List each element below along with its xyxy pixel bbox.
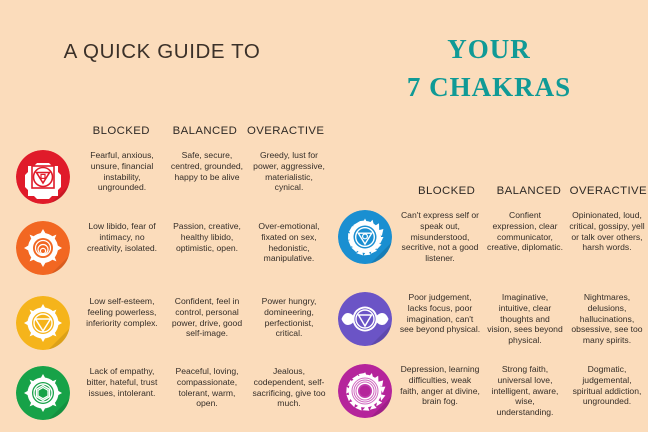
icon-cell bbox=[334, 292, 396, 346]
row-cells: Poor judgement, lacks focus, poor imagin… bbox=[396, 292, 648, 346]
cell-balanced: Safe, secure, centred, grounded, happy t… bbox=[166, 150, 248, 193]
cell-overactive: Greedy, lust for power, aggressive, mate… bbox=[248, 150, 330, 193]
crown-chakra-icon bbox=[338, 364, 392, 418]
cell-blocked: Low self-esteem, feeling powerless, infe… bbox=[78, 296, 166, 339]
sacral-chakra-icon bbox=[16, 221, 70, 275]
column-header-blocked: BLOCKED bbox=[78, 125, 165, 137]
icon-cell bbox=[8, 296, 78, 350]
heart-chakra-icon bbox=[16, 366, 70, 420]
column-header-overactive: OVERACTIVE bbox=[569, 185, 648, 197]
row-cells: Low libido, fear of intimacy, no creativ… bbox=[78, 221, 330, 264]
solar-plexus-chakra-icon bbox=[16, 296, 70, 350]
row-cells: Can't express self or speak out, misunde… bbox=[396, 210, 648, 264]
icon-cell bbox=[334, 210, 396, 264]
page-title-right-line1: YOUR bbox=[330, 32, 648, 66]
page-title-right-line2: 7 CHAKRAS bbox=[330, 70, 648, 104]
chakra-row-sacral: Low libido, fear of intimacy, no creativ… bbox=[8, 221, 330, 275]
cell-overactive: Dogmatic, judgemental, spiritual addicti… bbox=[566, 364, 648, 418]
row-cells: Depression, learning difficulties, weak … bbox=[396, 364, 648, 418]
cell-blocked: Lack of empathy, bitter, hateful, trust … bbox=[78, 366, 166, 409]
column-headers-left: BLOCKED BALANCED OVERACTIVE bbox=[78, 125, 326, 137]
cell-overactive: Opinionated, loud, critical, gossipy, ye… bbox=[566, 210, 648, 264]
cell-balanced: Confident, feel in control, personal pow… bbox=[166, 296, 248, 339]
cell-blocked: Can't express self or speak out, misunde… bbox=[396, 210, 484, 264]
cell-balanced: Imaginative, intuitive, clear thoughts a… bbox=[484, 292, 566, 346]
cell-blocked: Depression, learning difficulties, weak … bbox=[396, 364, 484, 418]
row-cells: Lack of empathy, bitter, hateful, trust … bbox=[78, 366, 330, 409]
cell-balanced: Peaceful, loving, compassionate, toleran… bbox=[166, 366, 248, 409]
chakra-infographic: A QUICK GUIDE TO YOUR 7 CHAKRAS BLOCKED … bbox=[0, 0, 648, 432]
cell-balanced: Strong faith, universal love, intelligen… bbox=[484, 364, 566, 418]
icon-cell bbox=[8, 221, 78, 275]
column-header-blocked: BLOCKED bbox=[404, 185, 489, 197]
column-header-balanced: BALANCED bbox=[165, 125, 246, 137]
cell-blocked: Low libido, fear of intimacy, no creativ… bbox=[78, 221, 166, 264]
page-title-left: A QUICK GUIDE TO bbox=[0, 40, 324, 64]
cell-blocked: Poor judgement, lacks focus, poor imagin… bbox=[396, 292, 484, 346]
throat-chakra-icon bbox=[338, 210, 392, 264]
column-headers-right: BLOCKED BALANCED OVERACTIVE bbox=[404, 185, 648, 197]
chakra-row-solar-plexus: Low self-esteem, feeling powerless, infe… bbox=[8, 296, 330, 350]
cell-balanced: Passion, creative, healthy libido, optim… bbox=[166, 221, 248, 264]
row-cells: Low self-esteem, feeling powerless, infe… bbox=[78, 296, 330, 339]
page-title-right: YOUR 7 CHAKRAS bbox=[330, 32, 648, 104]
column-header-overactive: OVERACTIVE bbox=[245, 125, 326, 137]
cell-overactive: Over-emotional, fixated on sex, hedonist… bbox=[248, 221, 330, 264]
cell-overactive: Jealous, codependent, self-sacrificing, … bbox=[248, 366, 330, 409]
chakra-row-throat: Can't express self or speak out, misunde… bbox=[334, 210, 648, 264]
third-eye-chakra-icon bbox=[338, 292, 392, 346]
cell-blocked: Fearful, anxious, unsure, financial inst… bbox=[78, 150, 166, 193]
column-header-balanced: BALANCED bbox=[489, 185, 568, 197]
cell-overactive: Nightmares, delusions, hallucinations, o… bbox=[566, 292, 648, 346]
root-chakra-icon bbox=[16, 150, 70, 204]
cell-balanced: Confient expression, clear communicator,… bbox=[484, 210, 566, 264]
row-cells: Fearful, anxious, unsure, financial inst… bbox=[78, 150, 330, 193]
icon-cell bbox=[334, 364, 396, 418]
chakra-row-root: Fearful, anxious, unsure, financial inst… bbox=[8, 150, 330, 204]
icon-cell bbox=[8, 366, 78, 420]
chakra-row-heart: Lack of empathy, bitter, hateful, trust … bbox=[8, 366, 330, 420]
chakra-row-crown: Depression, learning difficulties, weak … bbox=[334, 364, 648, 418]
icon-cell bbox=[8, 150, 78, 204]
cell-overactive: Power hungry, domineering, perfectionist… bbox=[248, 296, 330, 339]
chakra-row-third-eye: Poor judgement, lacks focus, poor imagin… bbox=[334, 292, 648, 346]
